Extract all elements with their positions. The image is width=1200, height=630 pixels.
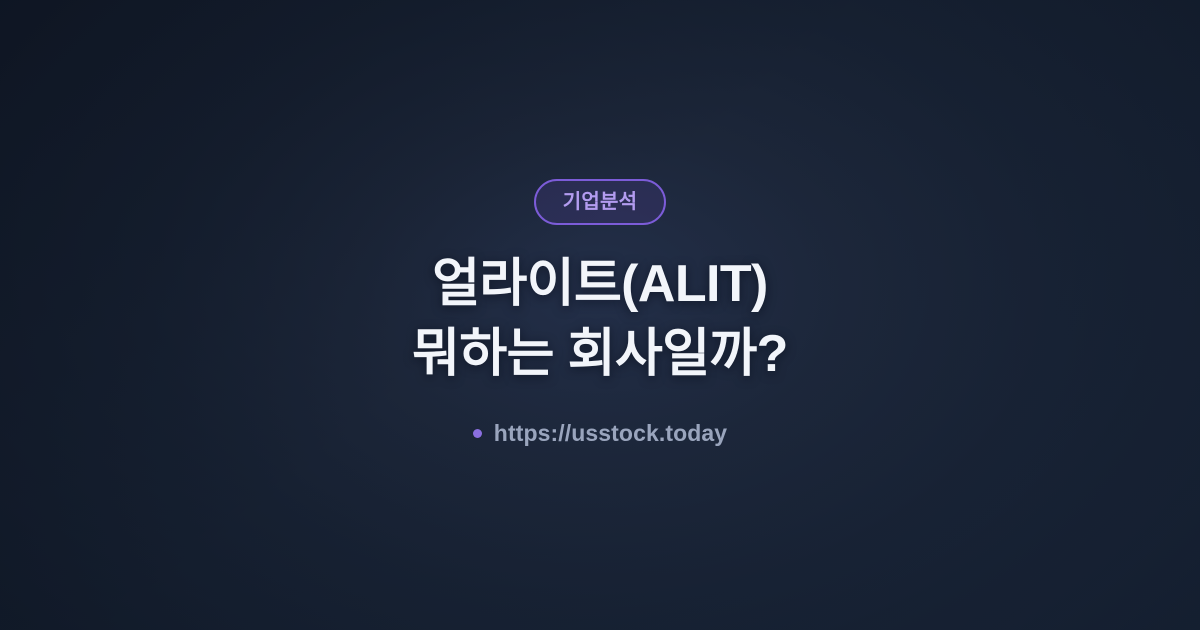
site-url-label: https://usstock.today xyxy=(494,422,727,445)
card-content: 기업분석 얼라이트(ALIT) 뭐하는 회사일까? https://usstoc… xyxy=(0,0,1200,630)
page-title-line-1: 얼라이트(ALIT) xyxy=(412,254,788,316)
page-title: 얼라이트(ALIT) 뭐하는 회사일까? xyxy=(412,254,788,386)
category-badge: 기업분석 xyxy=(534,179,666,225)
bullet-dot-icon xyxy=(473,429,482,438)
category-badge-label: 기업분석 xyxy=(563,192,637,212)
og-card: 기업분석 얼라이트(ALIT) 뭐하는 회사일까? https://usstoc… xyxy=(0,0,1200,630)
site-url-row: https://usstock.today xyxy=(473,422,727,445)
page-title-line-2: 뭐하는 회사일까? xyxy=(412,324,788,386)
